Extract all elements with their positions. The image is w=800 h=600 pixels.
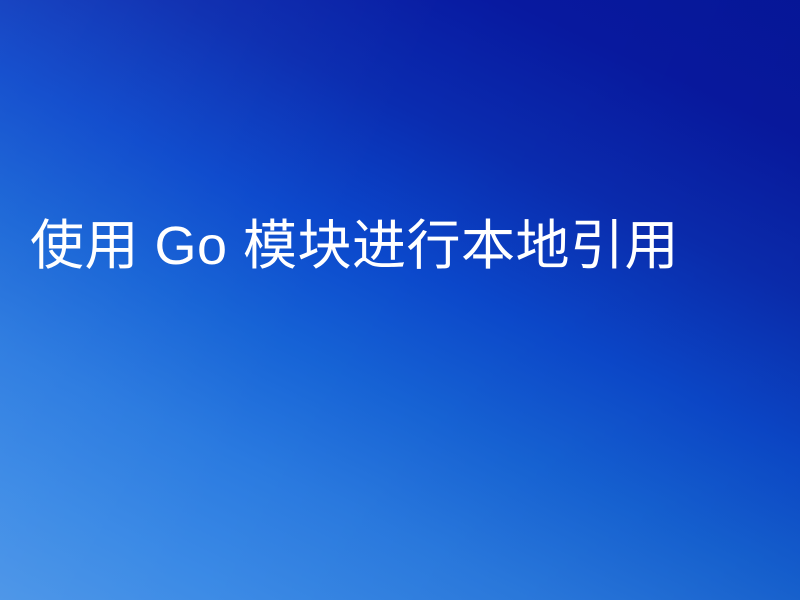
slide-canvas: 使用 Go 模块进行本地引用 [0, 0, 800, 600]
page-title: 使用 Go 模块进行本地引用 [30, 204, 730, 288]
title-block: 使用 Go 模块进行本地引用 [30, 204, 730, 288]
